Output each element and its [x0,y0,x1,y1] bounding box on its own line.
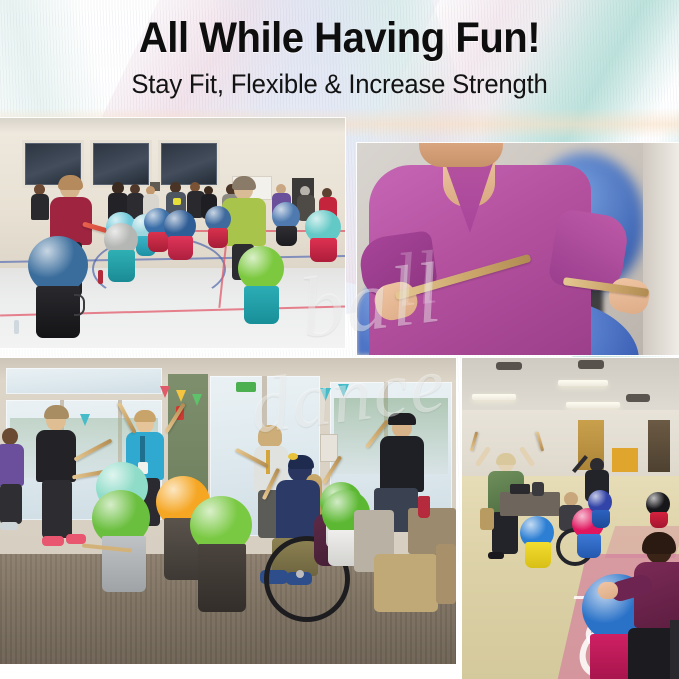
folding-table [500,492,560,516]
drink-cup [418,496,430,518]
wall-poster [320,434,338,462]
bag-on-table [510,484,530,494]
ceiling-vent [496,362,522,370]
bag-on-table [532,482,544,496]
exit-sign [236,382,256,392]
ceiling-light [472,394,516,400]
hall-wall [462,410,679,480]
tote-bag [480,508,494,530]
chair [374,554,438,612]
photo-inclusive-class-studio [0,358,456,664]
gym-scene [0,118,345,348]
storage-cabinet [612,448,638,472]
water-bottle [14,320,19,334]
photo-gym-hall-class [462,358,679,679]
page-title: All While Having Fun! [24,0,655,61]
chair [436,544,456,604]
studio-wall [643,143,679,355]
photo-watermark: ll [395,229,575,333]
wall-door [648,420,670,472]
photo-gym-class-group [0,118,345,348]
clerestory-window [6,368,162,394]
gym-window [158,140,220,188]
photo-drummer-closeup: ll [357,143,679,355]
studio-class-scene [0,358,456,664]
ceiling-light [558,380,608,386]
hall-scene [462,358,679,679]
page-subtitle: Stay Fit, Flexible & Increase Strength [17,61,662,100]
water-bottle [98,270,103,284]
chair-leg [670,620,679,679]
ceiling-light [566,402,620,408]
ceiling-vent [626,394,650,402]
header-text-block: All While Having Fun! Stay Fit, Flexible… [0,0,679,99]
gym-window [90,140,152,188]
drummer-scene: ll [357,143,679,355]
promo-banner: All While Having Fun! Stay Fit, Flexible… [0,0,679,679]
gym-ceiling [0,118,345,134]
ceiling-vent [578,360,604,369]
chin-shadow [419,143,503,167]
